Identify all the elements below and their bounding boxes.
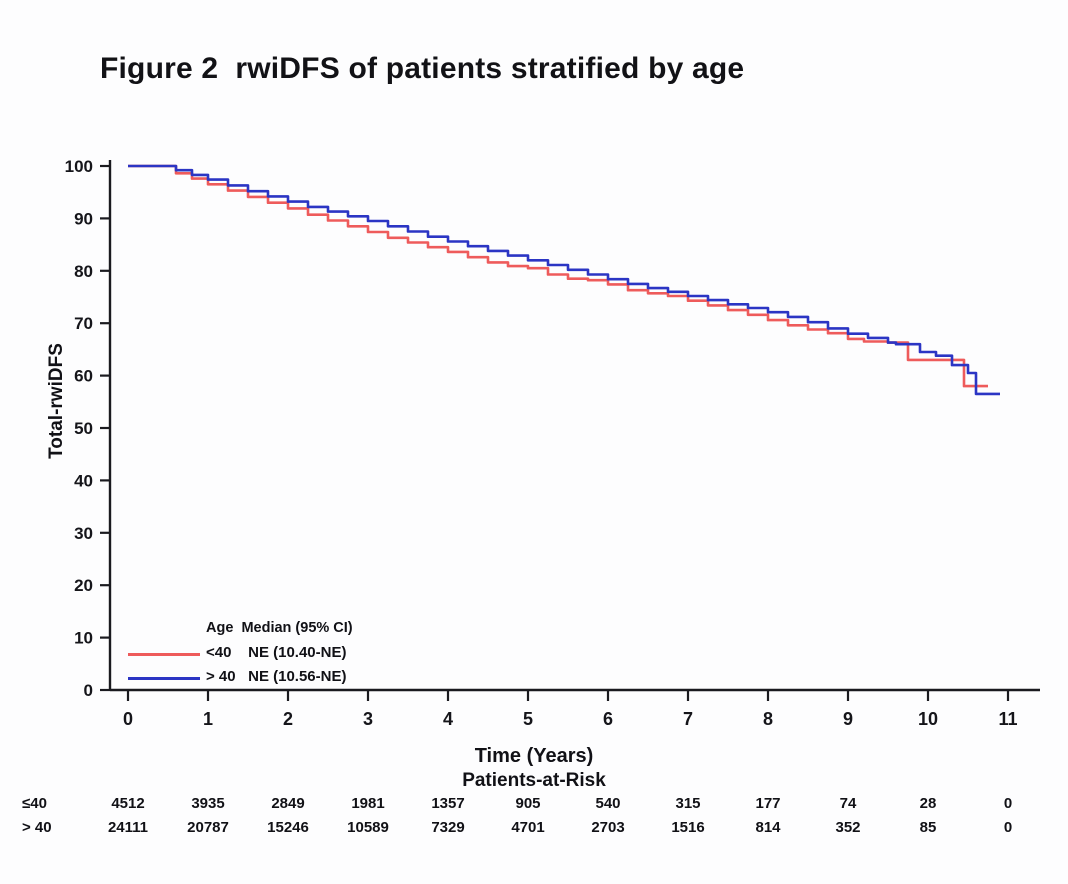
risk-row-label: ≤40 bbox=[22, 795, 82, 812]
y-tick-label: 70 bbox=[74, 314, 93, 333]
x-tick-label: 4 bbox=[443, 709, 453, 729]
risk-cell: 352 bbox=[818, 819, 878, 836]
risk-cell: 4512 bbox=[98, 795, 158, 812]
x-tick-label: 1 bbox=[203, 709, 213, 729]
series-layer bbox=[128, 166, 1000, 394]
risk-cell: 2703 bbox=[578, 819, 638, 836]
risk-cell: 85 bbox=[898, 819, 958, 836]
risk-cell: 315 bbox=[658, 795, 718, 812]
risk-cell: 3935 bbox=[178, 795, 238, 812]
x-tick-label: 2 bbox=[283, 709, 293, 729]
y-tick-label: 60 bbox=[74, 367, 93, 386]
risk-cell: 24111 bbox=[98, 819, 158, 836]
y-tick-label: 10 bbox=[74, 629, 93, 648]
y-tick-label: 50 bbox=[74, 419, 93, 438]
risk-cell: 2849 bbox=[258, 795, 318, 812]
patients-at-risk-heading: Patients-at-Risk bbox=[334, 770, 734, 792]
x-tick-label: 7 bbox=[683, 709, 693, 729]
risk-row: ≤404512393528491981135790554031517774280 bbox=[0, 795, 1068, 817]
figure-container: Figure 2 rwiDFS of patients stratified b… bbox=[0, 0, 1068, 884]
x-tick-label: 11 bbox=[998, 709, 1017, 729]
risk-cell: 1981 bbox=[338, 795, 398, 812]
x-tick-label: 5 bbox=[523, 709, 533, 729]
x-tick-label: 6 bbox=[603, 709, 613, 729]
x-tick-label: 9 bbox=[843, 709, 853, 729]
y-tick-label: 30 bbox=[74, 524, 93, 543]
risk-cell: 28 bbox=[898, 795, 958, 812]
legend-swatch-red bbox=[128, 653, 200, 656]
y-tick-label: 100 bbox=[65, 157, 93, 176]
y-axis-title: Total-rwiDFS bbox=[46, 311, 68, 491]
risk-cell: 905 bbox=[498, 795, 558, 812]
risk-cell: 15246 bbox=[258, 819, 318, 836]
risk-cell: 20787 bbox=[178, 819, 238, 836]
x-tick-label: 3 bbox=[363, 709, 373, 729]
km-curve-over-40 bbox=[128, 166, 1000, 394]
x-tick-label: 8 bbox=[763, 709, 773, 729]
y-tick-label: 90 bbox=[74, 209, 93, 228]
x-tick-label: 0 bbox=[123, 709, 133, 729]
risk-cell: 10589 bbox=[338, 819, 398, 836]
legend-label-under-40: <40 NE (10.40-NE) bbox=[206, 644, 346, 661]
chart-plot-area: 010203040506070809010001234567891011 Tot… bbox=[0, 0, 1068, 884]
y-tick-label: 80 bbox=[74, 262, 93, 281]
risk-cell: 0 bbox=[978, 795, 1038, 812]
risk-cell: 4701 bbox=[498, 819, 558, 836]
risk-row-label: > 40 bbox=[22, 819, 82, 836]
risk-cell: 1357 bbox=[418, 795, 478, 812]
y-tick-label: 20 bbox=[74, 576, 93, 595]
risk-cell: 7329 bbox=[418, 819, 478, 836]
y-tick-label: 40 bbox=[74, 471, 93, 490]
risk-cell: 0 bbox=[978, 819, 1038, 836]
y-tick-label: 0 bbox=[84, 681, 93, 700]
risk-cell: 1516 bbox=[658, 819, 718, 836]
risk-row: > 40241112078715246105897329470127031516… bbox=[0, 819, 1068, 841]
x-axis-title: Time (Years) bbox=[334, 745, 734, 768]
risk-cell: 74 bbox=[818, 795, 878, 812]
legend-swatch-blue bbox=[128, 677, 200, 680]
legend-label-over-40: > 40 NE (10.56-NE) bbox=[206, 668, 346, 685]
legend-header: Age Median (95% CI) bbox=[206, 620, 353, 636]
x-tick-label: 10 bbox=[918, 709, 938, 729]
risk-cell: 814 bbox=[738, 819, 798, 836]
risk-cell: 540 bbox=[578, 795, 638, 812]
km-curve-under-40 bbox=[128, 166, 988, 386]
risk-cell: 177 bbox=[738, 795, 798, 812]
